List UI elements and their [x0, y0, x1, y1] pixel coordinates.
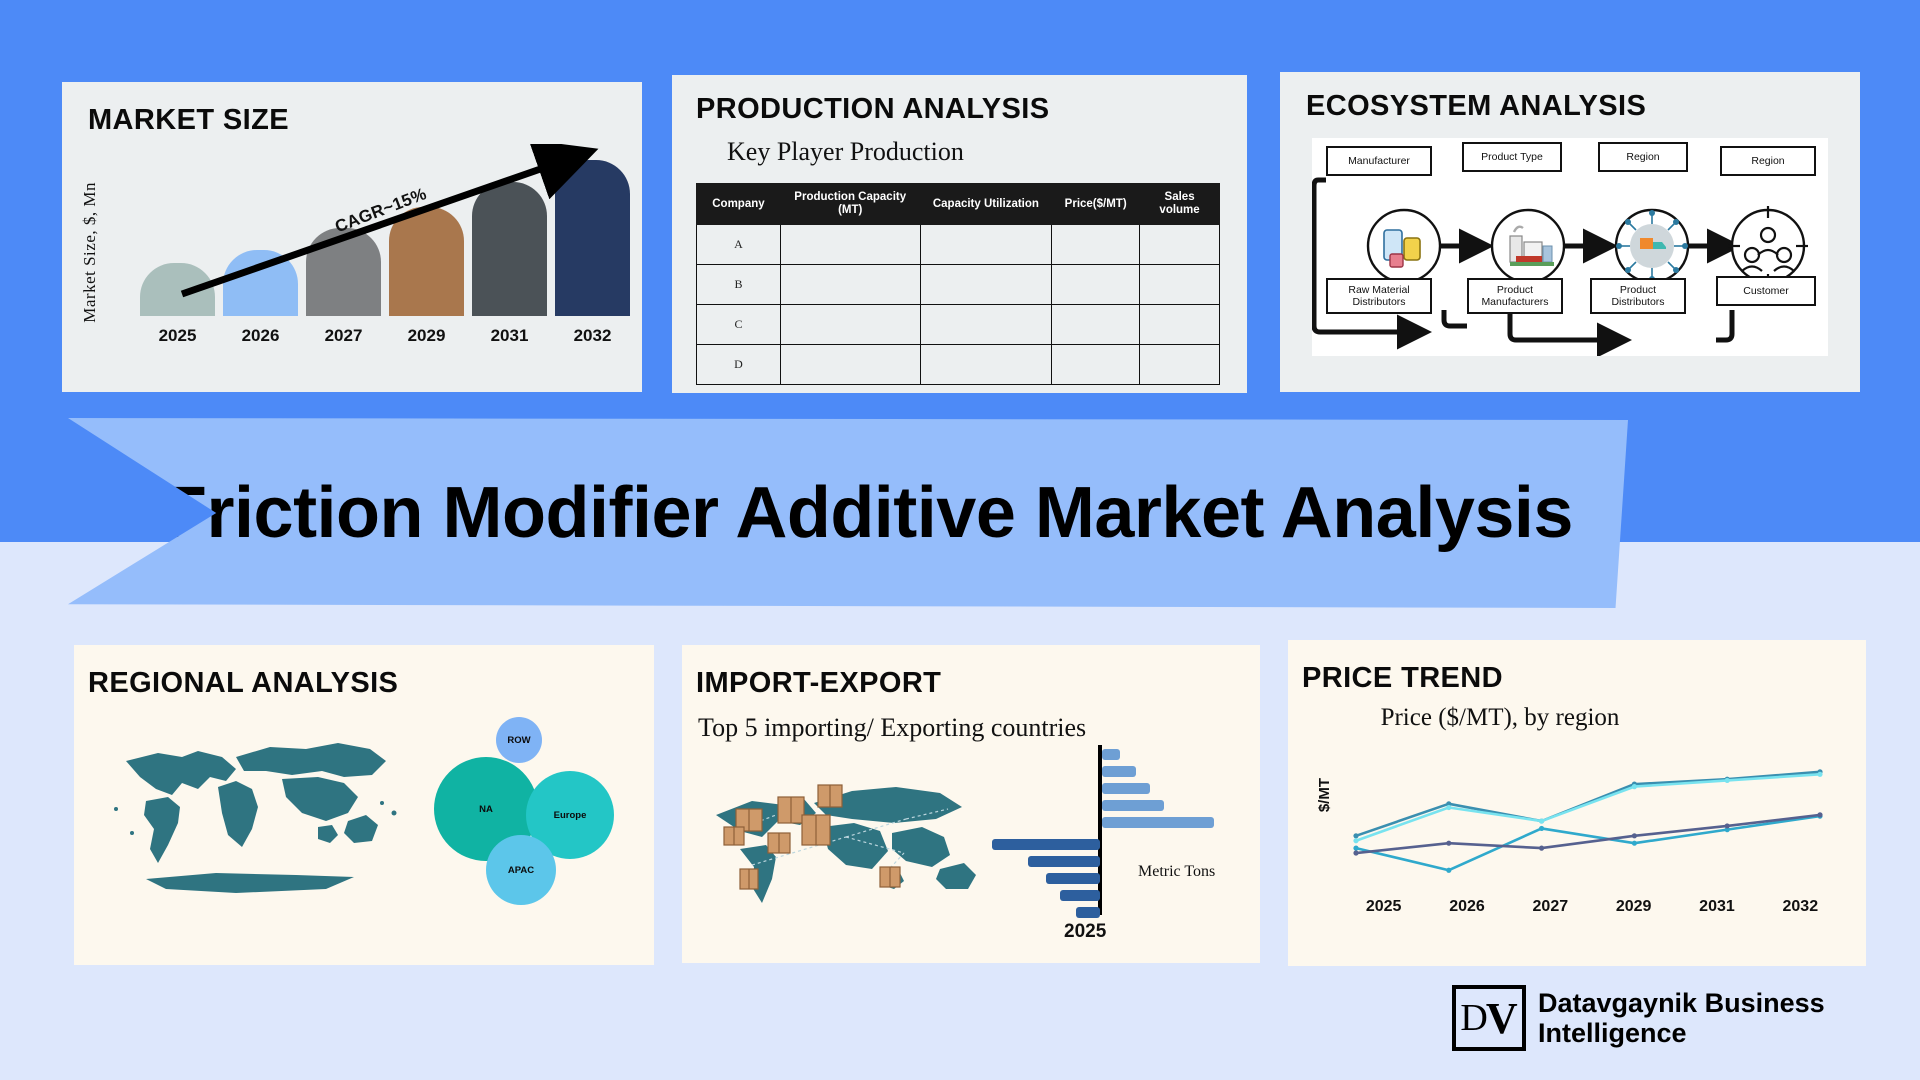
- infographic-page: MARKET SIZE Market Size, $, Mn 202520262…: [0, 0, 1920, 1080]
- table-row[interactable]: D: [697, 345, 1220, 385]
- production-analysis-title: PRODUCTION ANALYSIS: [696, 93, 1050, 126]
- price-line-region-2: [1356, 774, 1820, 840]
- import-bar-1: [1102, 749, 1120, 760]
- price-point: [1539, 826, 1544, 831]
- price-point: [1725, 778, 1730, 783]
- bar-fill: [555, 160, 630, 316]
- cell-capacity[interactable]: [780, 225, 920, 265]
- trade-route-map-icon: [696, 757, 996, 937]
- eco-bottom-label-raw-material-distributors: Raw Material Distributors: [1326, 278, 1432, 314]
- price-point: [1817, 772, 1822, 777]
- price-trend-line-chart: [1342, 748, 1842, 893]
- price-point: [1353, 838, 1358, 843]
- column-header-utilization: Capacity Utilization: [920, 184, 1052, 225]
- price-year-label-2031: 2031: [1675, 898, 1758, 916]
- market-size-bar-2031: [472, 144, 547, 316]
- price-trend-year-labels: 202520262027202920312032: [1342, 898, 1842, 916]
- year-label-2025: 2025: [140, 326, 215, 346]
- export-bar-3: [1046, 873, 1100, 884]
- ecosystem-diagram: Manufacturer Product Type Region Region …: [1312, 138, 1828, 356]
- regional-analysis-panel: REGIONAL ANALYSIS NAEuropeAPACROW: [74, 645, 654, 965]
- production-analysis-subtitle: Key Player Production: [727, 137, 964, 167]
- cell-capacity[interactable]: [780, 305, 920, 345]
- market-size-title: MARKET SIZE: [88, 104, 289, 137]
- cell-utilization[interactable]: [920, 345, 1052, 385]
- column-header-price: Price($/MT): [1052, 184, 1140, 225]
- ecosystem-analysis-title: ECOSYSTEM ANALYSIS: [1306, 90, 1646, 123]
- price-point: [1353, 850, 1358, 855]
- year-label-2026: 2026: [223, 326, 298, 346]
- cell-company[interactable]: D: [697, 345, 781, 385]
- market-size-y-axis-label: Market Size, $, Mn: [80, 182, 100, 323]
- price-point: [1446, 805, 1451, 810]
- logo-letter-d: D: [1460, 996, 1487, 1040]
- cell-utilization[interactable]: [920, 225, 1052, 265]
- market-size-bar-2025: [140, 144, 215, 316]
- metric-tons-label: Metric Tons: [1138, 863, 1215, 881]
- company-logo: D V Datavgaynik Business Intelligence: [1452, 985, 1868, 1051]
- eco-top-label-region-1: Region: [1598, 142, 1688, 172]
- price-point: [1632, 833, 1637, 838]
- price-line-region-4: [1356, 815, 1820, 853]
- logo-letter-v: V: [1486, 993, 1518, 1044]
- cell-utilization[interactable]: [920, 305, 1052, 345]
- import-export-tornado-chart: Metric Tons 2025: [1012, 745, 1222, 945]
- page-title: Friction Modifier Additive Market Analys…: [68, 418, 1628, 608]
- column-header-company: Company: [697, 184, 781, 225]
- price-year-label-2027: 2027: [1509, 898, 1592, 916]
- export-bar-4: [1060, 890, 1100, 901]
- tornado-year-label: 2025: [1064, 921, 1106, 943]
- eco-top-label-manufacturer: Manufacturer: [1326, 146, 1432, 176]
- market-size-bar-2029: [389, 144, 464, 316]
- import-export-title: IMPORT-EXPORT: [696, 667, 941, 700]
- column-header-sales: Sales volume: [1140, 184, 1220, 225]
- year-label-2027: 2027: [306, 326, 381, 346]
- title-banner: Friction Modifier Additive Market Analys…: [68, 418, 1628, 608]
- price-point: [1353, 846, 1358, 851]
- bar-fill: [306, 228, 381, 316]
- eco-top-label-region-2: Region: [1720, 146, 1816, 176]
- cell-capacity[interactable]: [780, 345, 920, 385]
- cell-price[interactable]: [1052, 305, 1140, 345]
- price-year-label-2025: 2025: [1342, 898, 1425, 916]
- region-bubble-row: ROW: [496, 717, 542, 763]
- table-row[interactable]: B: [697, 265, 1220, 305]
- bar-fill: [389, 207, 464, 316]
- price-year-label-2032: 2032: [1759, 898, 1842, 916]
- eco-top-label-product-type: Product Type: [1462, 142, 1562, 172]
- cell-company[interactable]: B: [697, 265, 781, 305]
- cell-company[interactable]: C: [697, 305, 781, 345]
- year-label-2032: 2032: [555, 326, 630, 346]
- export-bar-2: [1028, 856, 1100, 867]
- table-row[interactable]: C: [697, 305, 1220, 345]
- price-point: [1725, 823, 1730, 828]
- cell-price[interactable]: [1052, 345, 1140, 385]
- bar-fill: [223, 250, 298, 316]
- price-point: [1446, 841, 1451, 846]
- price-point: [1539, 846, 1544, 851]
- export-bar-1: [992, 839, 1100, 850]
- region-bubble-apac: APAC: [486, 835, 556, 905]
- regional-bubbles: NAEuropeAPACROW: [434, 705, 634, 915]
- cell-sales[interactable]: [1140, 345, 1220, 385]
- cell-sales[interactable]: [1140, 225, 1220, 265]
- export-bar-5: [1076, 907, 1100, 918]
- distribution-network-icon: [1616, 210, 1688, 282]
- price-point: [1446, 868, 1451, 873]
- column-header-capacity: Production Capacity (MT): [780, 184, 920, 225]
- price-trend-panel: PRICE TREND Price ($/MT), by region $/MT…: [1288, 640, 1866, 966]
- key-player-production-table: Company Production Capacity (MT) Capacit…: [696, 183, 1220, 385]
- ecosystem-analysis-panel: ECOSYSTEM ANALYSIS: [1280, 72, 1860, 392]
- logo-company-name: Datavgaynik Business Intelligence: [1538, 988, 1868, 1048]
- cell-capacity[interactable]: [780, 265, 920, 305]
- table-header-row: Company Production Capacity (MT) Capacit…: [697, 184, 1220, 225]
- import-bar-3: [1102, 783, 1150, 794]
- eco-bottom-label-customer: Customer: [1716, 276, 1816, 306]
- price-trend-y-axis-label: $/MT: [1316, 778, 1333, 812]
- cell-price[interactable]: [1052, 265, 1140, 305]
- cell-price[interactable]: [1052, 225, 1140, 265]
- regional-analysis-title: REGIONAL ANALYSIS: [88, 667, 398, 700]
- market-size-bar-2026: [223, 144, 298, 316]
- market-size-bar-2032: [555, 144, 630, 316]
- price-trend-subtitle: Price ($/MT), by region: [1370, 702, 1630, 733]
- price-point: [1353, 833, 1358, 838]
- price-point: [1632, 841, 1637, 846]
- price-year-label-2029: 2029: [1592, 898, 1675, 916]
- import-bar-4: [1102, 800, 1164, 811]
- price-year-label-2026: 2026: [1425, 898, 1508, 916]
- world-map-icon: [86, 717, 426, 917]
- import-bar-2: [1102, 766, 1136, 777]
- price-point: [1539, 818, 1544, 823]
- import-export-subtitle: Top 5 importing/ Exporting countries: [698, 713, 1086, 743]
- price-point: [1817, 812, 1822, 817]
- market-size-panel: MARKET SIZE Market Size, $, Mn 202520262…: [62, 82, 642, 392]
- bar-fill: [140, 263, 215, 316]
- import-bar-5: [1102, 817, 1214, 828]
- eco-bottom-label-product-distributors: Product Distributors: [1590, 278, 1686, 314]
- import-export-panel: IMPORT-EXPORT Top 5 importing/ Exporting…: [682, 645, 1260, 963]
- year-label-2031: 2031: [472, 326, 547, 346]
- market-size-bars: [140, 144, 630, 316]
- table-row[interactable]: A: [697, 225, 1220, 265]
- price-point: [1632, 784, 1637, 789]
- market-size-plot: 202520262027202920312032 CAGR~15%: [140, 144, 630, 352]
- bar-fill: [472, 182, 547, 316]
- market-size-year-labels: 202520262027202920312032: [140, 326, 630, 346]
- cell-sales[interactable]: [1140, 305, 1220, 345]
- cell-sales[interactable]: [1140, 265, 1220, 305]
- cell-company[interactable]: A: [697, 225, 781, 265]
- price-trend-title: PRICE TREND: [1302, 662, 1503, 695]
- eco-bottom-label-product-manufacturers: Product Manufacturers: [1467, 278, 1563, 314]
- cell-utilization[interactable]: [920, 265, 1052, 305]
- year-label-2029: 2029: [389, 326, 464, 346]
- production-analysis-panel: PRODUCTION ANALYSIS Key Player Productio…: [672, 75, 1247, 393]
- logo-mark-icon: D V: [1452, 985, 1526, 1051]
